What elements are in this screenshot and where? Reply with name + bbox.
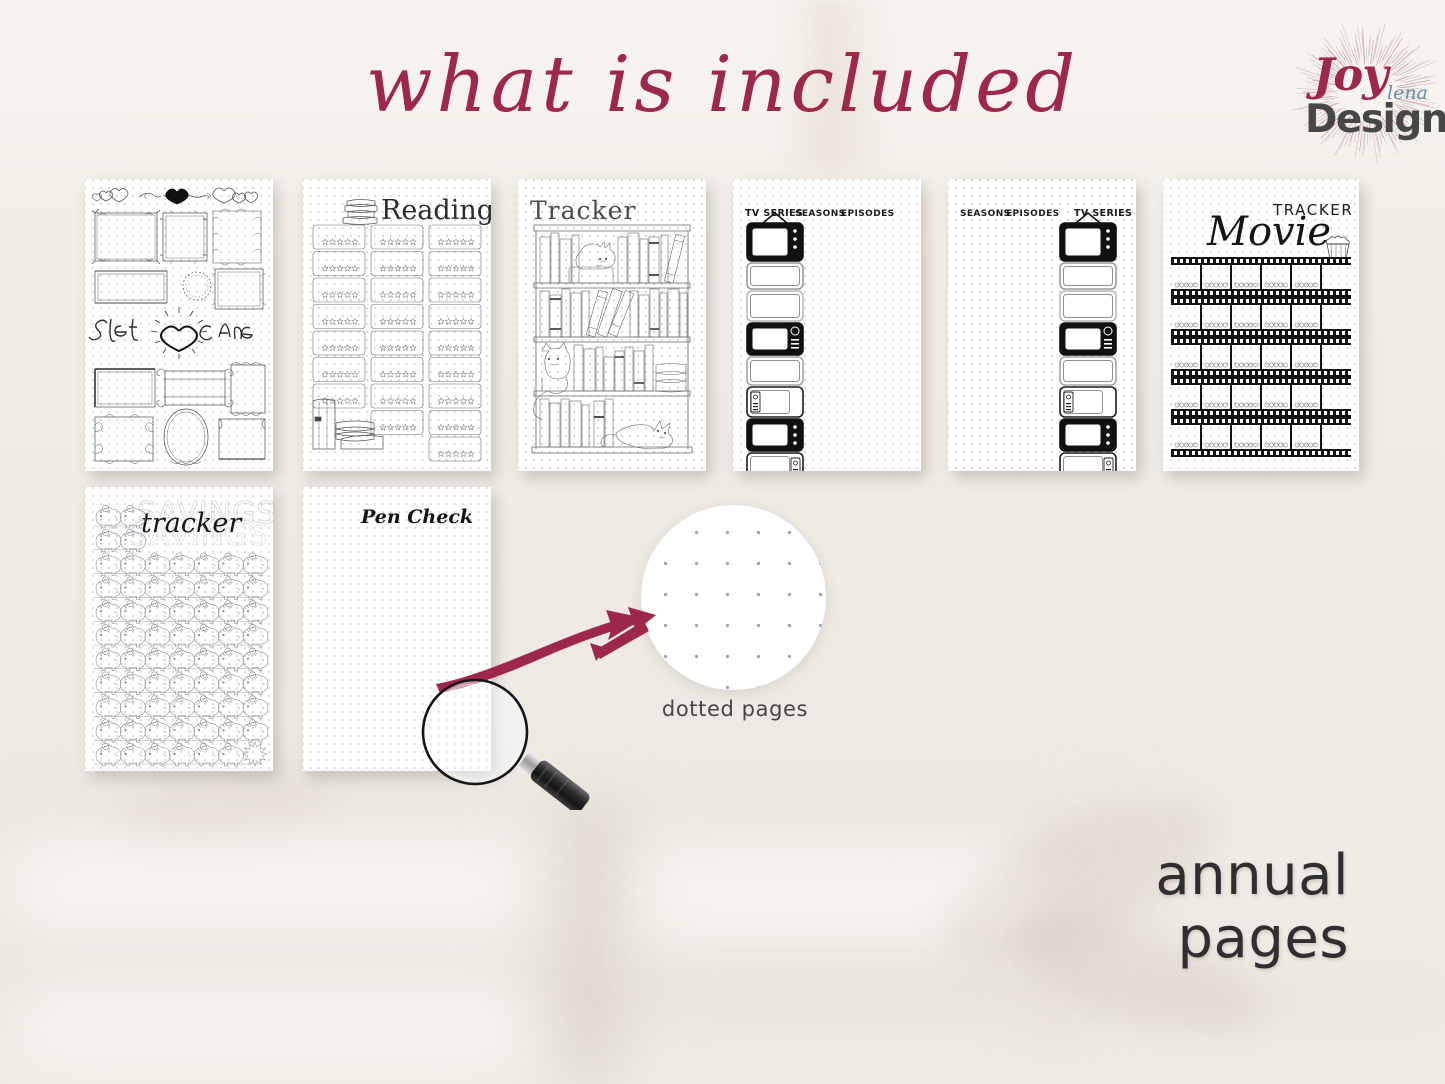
reading-title: Reading: [303, 179, 491, 471]
planner-page-tv-series-left[interactable]: TV SERIES SEASONS EPISODES: [733, 179, 921, 471]
tv-header-1: EPISODES: [1006, 209, 1060, 219]
movie-artwork: TRACKER Movie: [1163, 179, 1359, 471]
planner-page-book-tracker[interactable]: Tracker: [518, 179, 706, 471]
planner-page-savings-tracker[interactable]: SAVINGS SAVINGS tracker: [85, 487, 273, 771]
poster-canvas: what is included Joy lena Designs: [0, 0, 1445, 1084]
movie-title-movie: Movie: [1206, 209, 1331, 255]
savings-artwork: SAVINGS SAVINGS tracker: [85, 487, 273, 771]
savings-script-title: tracker: [141, 508, 243, 539]
magnifying-glass-icon: [385, 660, 615, 810]
tv-header-2: EPISODES: [841, 209, 895, 219]
tv-header-1: SEASONS: [795, 209, 846, 219]
tv-left-artwork: TV SERIES SEASONS EPISODES: [733, 179, 921, 471]
pen-check-title: Pen Check: [360, 506, 473, 528]
self-care-artwork: [85, 179, 273, 471]
tv-right-artwork: SEASONS EPISODES TV SERIES: [948, 179, 1136, 471]
bookshelf-artwork: Tracker: [518, 179, 706, 471]
annual-line-2: pages: [1155, 908, 1349, 971]
brand-logo: Joy lena Designs: [1291, 22, 1443, 168]
dotted-pages-label: dotted pages: [590, 697, 880, 721]
annual-pages-caption: annual pages: [1155, 845, 1349, 970]
page-title: what is included: [0, 46, 1445, 124]
logo-secondary-text: Designs: [1305, 100, 1445, 139]
planner-page-self-care[interactable]: [85, 179, 273, 471]
planner-page-tv-series-right[interactable]: SEASONS EPISODES TV SERIES: [948, 179, 1136, 471]
planner-page-movie-tracker[interactable]: TRACKER Movie: [1163, 179, 1359, 471]
annual-line-1: annual: [1155, 845, 1349, 908]
svg-text:Tracker: Tracker: [530, 196, 636, 225]
logo-primary-text: Joy: [1313, 52, 1387, 97]
svg-text:Reading: Reading: [381, 195, 491, 226]
planner-page-reading[interactable]: Reading: [303, 179, 491, 471]
tv-header-0: SEASONS: [960, 209, 1011, 219]
